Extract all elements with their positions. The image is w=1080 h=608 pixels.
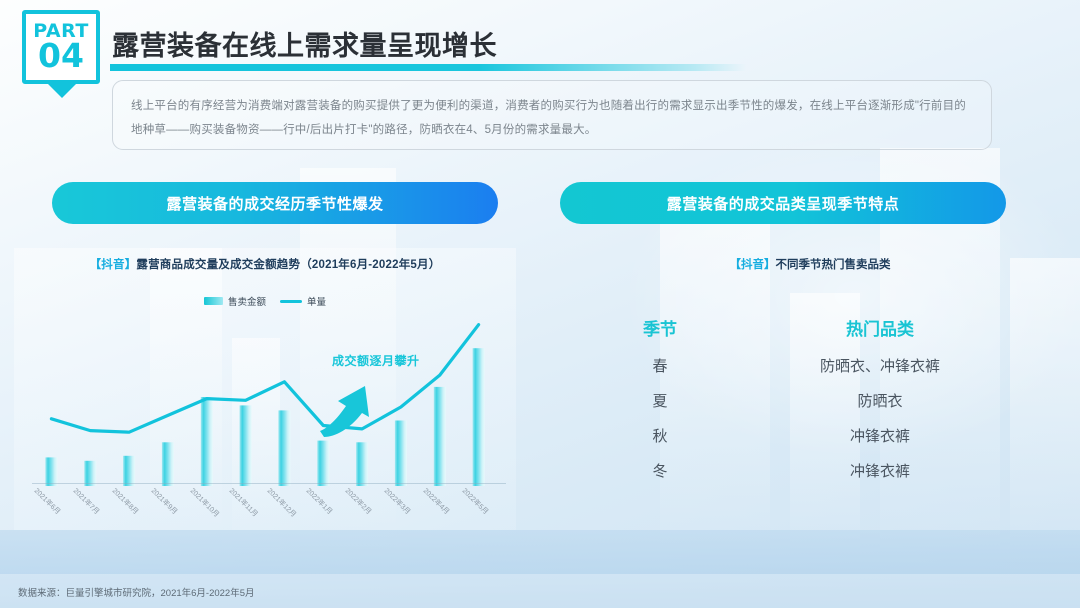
chart-bar <box>240 405 252 486</box>
chart-title-tag: 【抖音】 <box>90 259 137 271</box>
chart-bar <box>162 442 174 486</box>
table-row: 春防晒衣、冲锋衣裤 <box>590 348 1030 383</box>
chart-plot-area <box>32 318 498 486</box>
table-body: 春防晒衣、冲锋衣裤夏防晒衣秋冲锋衣裤冬冲锋衣裤 <box>590 348 1030 488</box>
chart-bar <box>201 397 213 486</box>
part-badge-pointer-icon <box>46 82 78 98</box>
table-title-tag: 【抖音】 <box>730 259 776 271</box>
table-row: 秋冲锋衣裤 <box>590 418 1030 453</box>
chart-x-axis <box>32 483 506 484</box>
heading-underline <box>110 64 746 71</box>
chart-bar <box>278 410 290 486</box>
chart-bar <box>317 441 329 486</box>
legend-label-amount: 售卖金额 <box>228 294 266 308</box>
x-axis-label: 2021年7月 <box>71 486 102 517</box>
table-title-rest: 不同季节热门售卖品类 <box>776 259 891 271</box>
banner-right: 露营装备的成交品类呈现季节特点 <box>560 182 1006 224</box>
x-axis-label: 2021年11月 <box>227 486 260 519</box>
chart-title-rest: 露营商品成交量及成交金额趋势（2021年6月-2022年5月） <box>136 259 440 271</box>
table-cell-season: 冬 <box>590 460 730 481</box>
legend-line-swatch-icon <box>280 300 302 303</box>
chart-line-series <box>51 325 478 433</box>
table-row: 夏防晒衣 <box>590 383 1030 418</box>
part-number: 04 <box>38 40 84 71</box>
chart-svg <box>32 318 498 486</box>
x-axis-label: 2022年2月 <box>343 486 374 517</box>
table-cell-season: 夏 <box>590 390 730 411</box>
table-cell-category: 防晒衣、冲锋衣裤 <box>730 355 1030 376</box>
chart-title: 【抖音】露营商品成交量及成交金额趋势（2021年6月-2022年5月） <box>14 256 516 272</box>
chart-bar <box>45 457 57 486</box>
chart-legend: 售卖金额 单量 <box>14 294 516 308</box>
table-cell-season: 秋 <box>590 425 730 446</box>
chart-bar <box>123 456 135 486</box>
legend-item-orders: 单量 <box>280 294 326 308</box>
chart-bar <box>395 421 407 487</box>
chart-bar <box>473 348 485 486</box>
banner-left: 露营装备的成交经历季节性爆发 <box>52 182 498 224</box>
legend-label-orders: 单量 <box>307 294 326 308</box>
table-cell-season: 春 <box>590 355 730 376</box>
page-title: 露营装备在线上需求量呈现增长 <box>112 24 497 63</box>
table-header-category: 热门品类 <box>730 315 1030 340</box>
legend-bar-swatch-icon <box>204 297 223 305</box>
x-axis-label: 2022年1月 <box>304 486 335 517</box>
chart-bar <box>434 387 446 486</box>
legend-item-amount: 售卖金额 <box>204 294 266 308</box>
chart-bar <box>356 442 368 486</box>
x-axis-label: 2021年8月 <box>110 486 141 517</box>
x-axis-label: 2021年6月 <box>32 486 63 517</box>
table-header-season: 季节 <box>590 315 730 340</box>
table-cell-category: 防晒衣 <box>730 390 1030 411</box>
table-cell-category: 冲锋衣裤 <box>730 460 1030 481</box>
table-title: 【抖音】不同季节热门售卖品类 <box>560 256 1060 272</box>
category-table: 季节 热门品类 春防晒衣、冲锋衣裤夏防晒衣秋冲锋衣裤冬冲锋衣裤 <box>590 306 1030 488</box>
x-axis-label: 2022年4月 <box>421 486 452 517</box>
chart-x-labels: 2021年6月2021年7月2021年8月2021年9月2021年10月2021… <box>32 486 498 530</box>
footer-source: 数据来源：巨量引擎城市研究院，2021年6月-2022年5月 <box>18 585 255 599</box>
table-row: 冬冲锋衣裤 <box>590 453 1030 488</box>
x-axis-label: 2021年12月 <box>265 486 298 519</box>
intro-paragraph: 线上平台的有序经营为消费端对露营装备的购买提供了更为便利的渠道，消费者的购买行为… <box>131 94 973 142</box>
category-table-panel: 【抖音】不同季节热门售卖品类 季节 热门品类 春防晒衣、冲锋衣裤夏防晒衣秋冲锋衣… <box>560 248 1060 530</box>
x-axis-label: 2022年3月 <box>382 486 413 517</box>
intro-box: 线上平台的有序经营为消费端对露营装备的购买提供了更为便利的渠道，消费者的购买行为… <box>112 80 992 150</box>
x-axis-label: 2022年5月 <box>460 486 491 517</box>
chart-annotation: 成交额逐月攀升 <box>332 352 420 369</box>
chart-panel: 【抖音】露营商品成交量及成交金额趋势（2021年6月-2022年5月） 售卖金额… <box>14 248 516 530</box>
part-badge: PART 04 <box>22 10 100 84</box>
x-axis-label: 2021年9月 <box>149 486 180 517</box>
x-axis-label: 2021年10月 <box>188 486 221 519</box>
table-cell-category: 冲锋衣裤 <box>730 425 1030 446</box>
table-header-row: 季节 热门品类 <box>590 306 1030 348</box>
